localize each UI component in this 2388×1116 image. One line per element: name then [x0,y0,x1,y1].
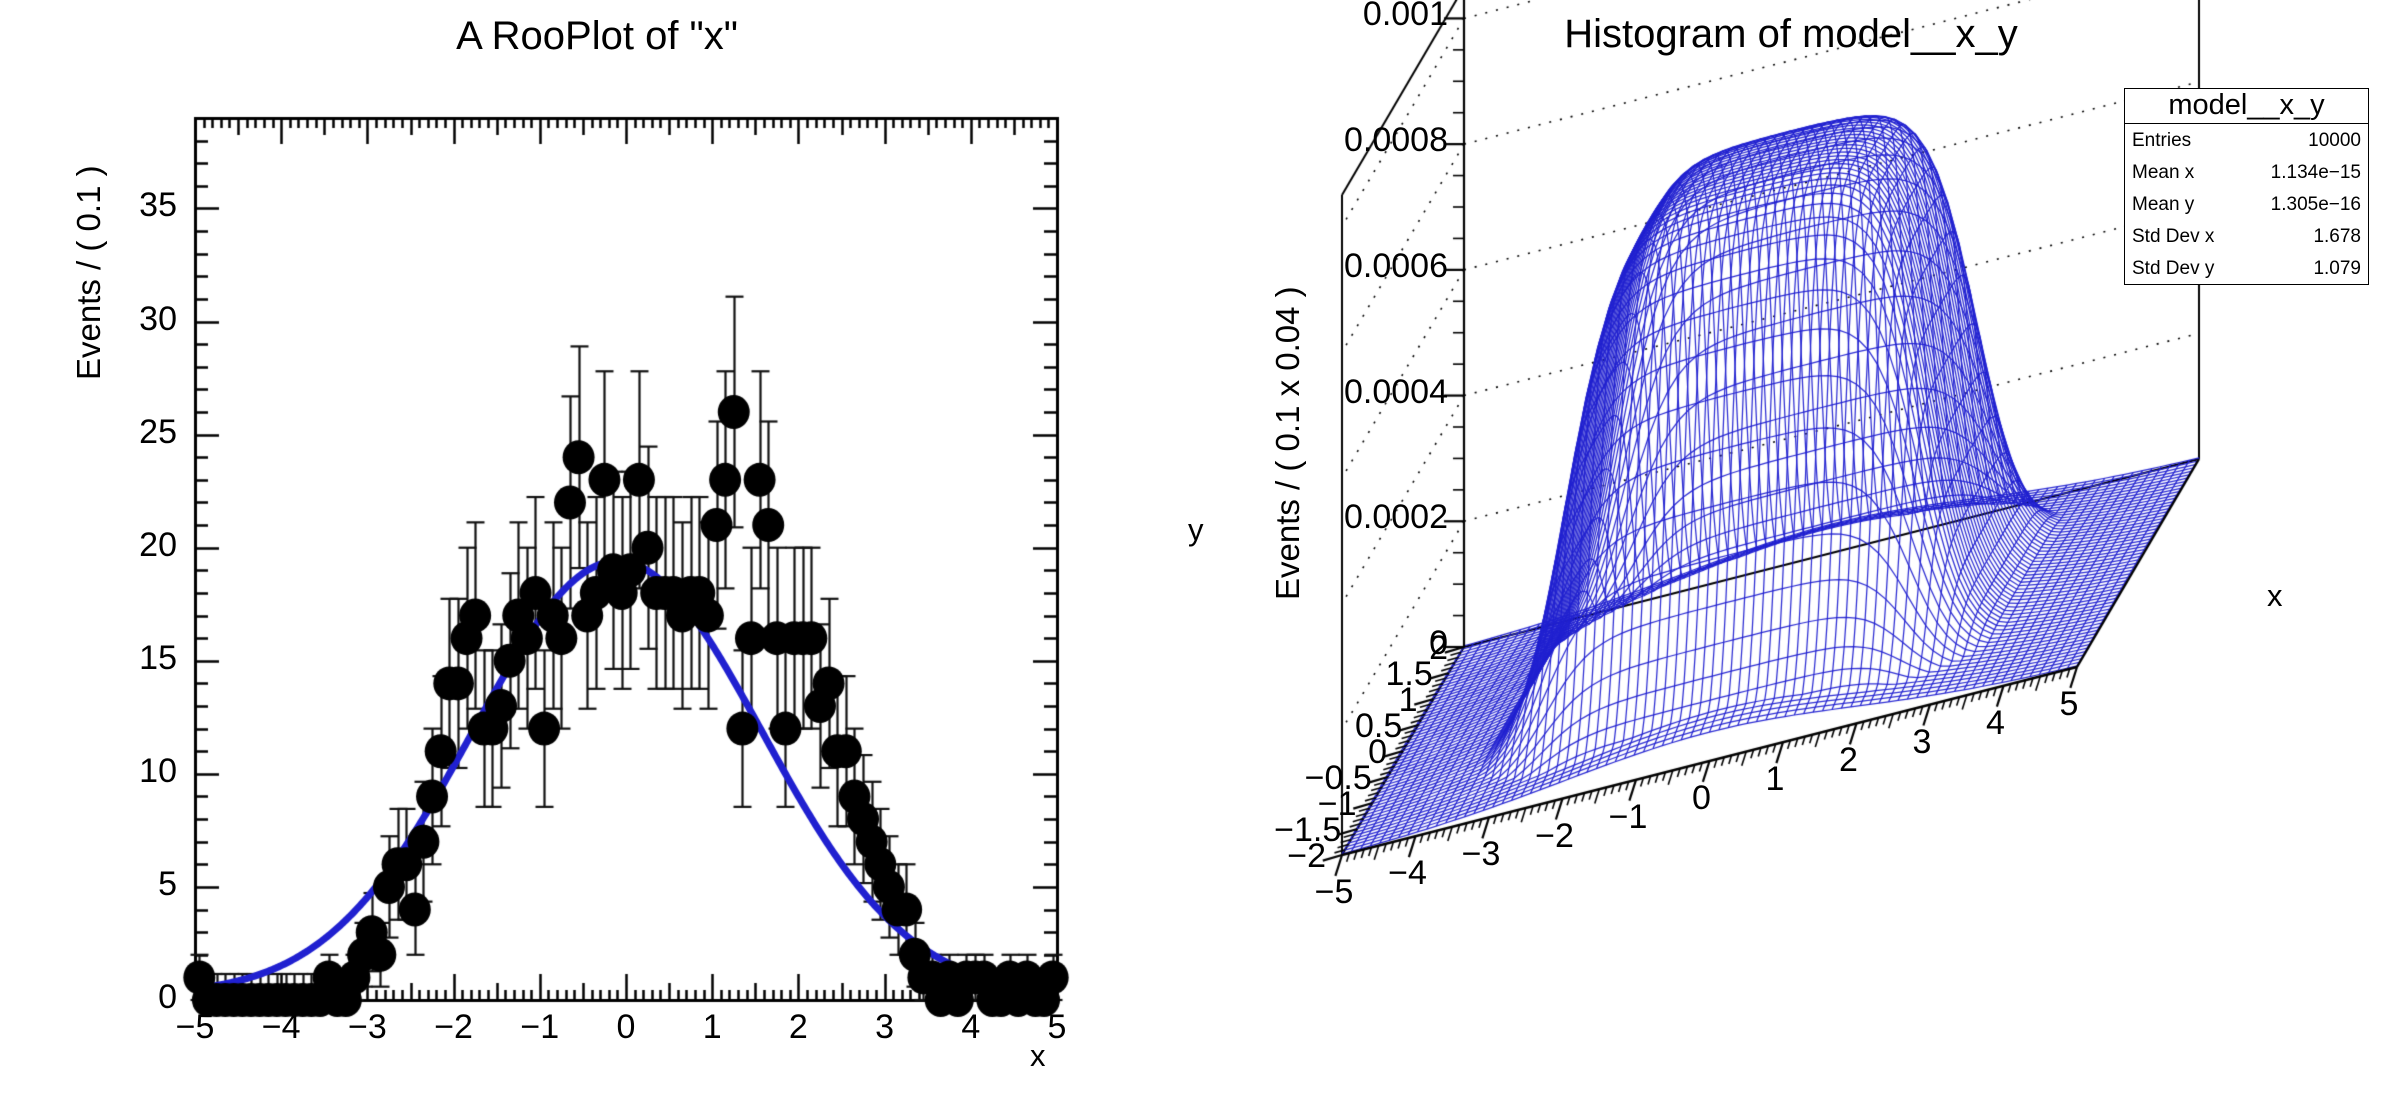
stats-row-value-0: 10000 [2308,131,2361,150]
stats-box-rows: Entries10000Mean x1.134e−15Mean y1.305e−… [2125,124,2368,284]
stats-row-key-2: Mean y [2132,195,2194,214]
stats-row-value-4: 1.079 [2313,259,2361,278]
right-x-tick-0: −5 [1294,873,1374,912]
rooplot-canvas [0,0,1194,1116]
stats-row-value-3: 1.678 [2313,227,2361,246]
stats-row-4: Std Dev y1.079 [2125,252,2368,284]
left-x-tick-2: −3 [327,1008,407,1047]
right-x-tick-9: 4 [1956,704,2036,743]
stats-box-title: model__x_y [2125,89,2368,124]
stats-box: model__x_y Entries10000Mean x1.134e−15Me… [2124,88,2369,285]
right-x-tick-5: 0 [1662,779,1742,818]
left-y-tick-0: 0 [77,978,177,1017]
right-y-axis-name: y [1188,512,1204,548]
stats-row-2: Mean y1.305e−16 [2125,188,2368,220]
right-x-axis-name: x [2267,578,2283,614]
left-y-tick-1: 5 [77,865,177,904]
stats-row-key-4: Std Dev y [2132,259,2214,278]
right-z-tick-3: 0.0006 [1228,247,1448,286]
left-x-tick-9: 4 [931,1008,1011,1047]
root-canvas-page: A RooPlot of "x" Events / ( 0.1 ) x −5−4… [0,0,2388,1116]
left-x-tick-5: 0 [586,1008,666,1047]
left-y-tick-2: 10 [77,752,177,791]
left-y-tick-7: 35 [77,186,177,225]
stats-row-value-2: 1.305e−16 [2271,195,2361,214]
left-plot-title: A RooPlot of "x" [0,14,1194,59]
stats-row-key-3: Std Dev x [2132,227,2214,246]
left-x-tick-4: −1 [500,1008,580,1047]
left-y-tick-4: 20 [77,526,177,565]
left-plot-pad: A RooPlot of "x" Events / ( 0.1 ) x −5−4… [0,0,1194,1116]
right-z-tick-1: 0.0002 [1228,498,1448,537]
stats-row-1: Mean x1.134e−15 [2125,156,2368,188]
right-x-tick-10: 5 [2029,685,2109,724]
left-x-tick-1: −4 [241,1008,321,1047]
stats-row-value-1: 1.134e−15 [2271,163,2361,182]
left-x-tick-10: 5 [1017,1008,1097,1047]
stats-row-3: Std Dev x1.678 [2125,220,2368,252]
left-x-tick-6: 1 [672,1008,752,1047]
left-x-tick-8: 3 [845,1008,925,1047]
left-y-tick-6: 30 [77,300,177,339]
left-x-tick-3: −2 [414,1008,494,1047]
right-y-tick-8: 2 [1348,629,1448,668]
right-x-tick-2: −3 [1441,835,1521,874]
right-x-tick-7: 2 [1809,741,1889,780]
right-z-tick-5: 0.001 [1228,0,1448,34]
right-x-tick-6: 1 [1735,760,1815,799]
left-y-tick-3: 15 [77,639,177,678]
left-y-tick-5: 25 [77,413,177,452]
stats-row-key-1: Mean x [2132,163,2194,182]
right-z-tick-4: 0.0008 [1228,121,1448,160]
right-x-tick-1: −4 [1368,854,1448,893]
right-x-tick-4: −1 [1588,798,1668,837]
right-z-tick-2: 0.0004 [1228,373,1448,412]
right-z-axis-title: Events / ( 0.1 x 0.04 ) [1269,286,1307,600]
stats-row-0: Entries10000 [2125,124,2368,156]
left-x-tick-7: 2 [758,1008,838,1047]
stats-row-key-0: Entries [2132,131,2191,150]
right-x-tick-8: 3 [1882,723,1962,762]
right-x-tick-3: −2 [1515,817,1595,856]
